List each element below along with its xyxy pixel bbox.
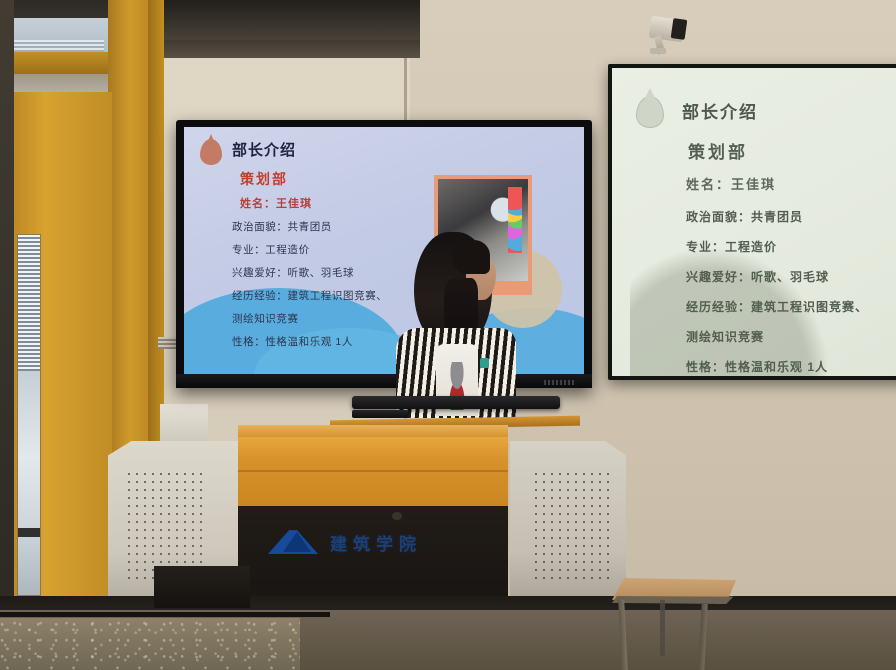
left-slide-department: 策划部 bbox=[240, 169, 288, 189]
left-shadow-edge bbox=[0, 0, 14, 670]
right-slide-name: 姓名：王佳琪 bbox=[686, 174, 776, 193]
screenshot-root: 部长介绍 策划部 姓名：王佳琪 政治面貌：共青团员 专业：工程造价 兴趣爱好：听… bbox=[0, 0, 896, 670]
right-slide-line: 专业：工程造价 bbox=[686, 238, 896, 255]
right-slide-line: 性格：性格温和乐观 1人 bbox=[686, 358, 896, 375]
soundbar bbox=[352, 396, 560, 409]
presenter-hair-front bbox=[454, 240, 490, 274]
door-vision-panel bbox=[17, 234, 41, 596]
right-display-screen: 部长介绍 策划部 姓名：王佳琪 政治面貌：共青团员 专业：工程造价 兴趣爱好：听… bbox=[612, 68, 896, 376]
soundbar-secondary bbox=[352, 410, 408, 418]
speaker-grille-right bbox=[532, 470, 610, 582]
floor-terrazzo bbox=[0, 618, 300, 670]
right-display[interactable]: 部长介绍 策划部 姓名：王佳琪 政治面貌：共青团员 专业：工程造价 兴趣爱好：听… bbox=[608, 64, 896, 380]
presenter-badge bbox=[480, 358, 489, 368]
lectern-front-panel bbox=[238, 506, 508, 602]
camera-mount bbox=[650, 48, 666, 54]
wooden-door[interactable] bbox=[0, 92, 112, 640]
lectern-logo-text: 建筑学院 bbox=[330, 530, 470, 552]
right-slide-title: 部长介绍 bbox=[682, 98, 758, 123]
right-slide-body: 政治面貌：共青团员 专业：工程造价 兴趣爱好：听歌、羽毛球 经历经验：建筑工程识… bbox=[686, 208, 896, 376]
door-blinds-icon bbox=[18, 235, 40, 371]
camera-lens bbox=[671, 18, 688, 40]
left-slide-title: 部长介绍 bbox=[232, 139, 296, 160]
ceiling-soffit-inner bbox=[150, 0, 420, 40]
left-slide-name: 姓名：王佳琪 bbox=[240, 195, 312, 211]
door-panel-floor bbox=[18, 537, 40, 595]
door-panel-sill bbox=[18, 528, 40, 537]
right-slide-line: 测绘知识竞赛 bbox=[686, 328, 896, 345]
wooden-stool-leg bbox=[660, 600, 665, 656]
left-display[interactable]: 部长介绍 策划部 姓名：王佳琪 政治面貌：共青团员 专业：工程造价 兴趣爱好：听… bbox=[176, 120, 592, 388]
security-camera-icon bbox=[650, 18, 690, 52]
right-slide: 部长介绍 策划部 姓名：王佳琪 政治面貌：共青团员 专业：工程造价 兴趣爱好：听… bbox=[612, 68, 896, 376]
right-slide-line: 经历经验：建筑工程识图竞赛、 bbox=[686, 298, 896, 315]
left-slide: 部长介绍 策划部 姓名：王佳琪 政治面貌：共青团员 专业：工程造价 兴趣爱好：听… bbox=[184, 127, 584, 374]
wooden-stool-rim bbox=[612, 596, 736, 604]
lectern-seam bbox=[238, 470, 508, 472]
water-drop-icon bbox=[636, 96, 664, 128]
right-slide-line: 政治面貌：共青团员 bbox=[686, 208, 896, 225]
lectern-emblem-dot bbox=[392, 512, 402, 520]
right-slide-line: 兴趣爱好：听歌、羽毛球 bbox=[686, 268, 896, 285]
under-podium-shadow bbox=[154, 566, 250, 608]
left-display-screen: 部长介绍 策划部 姓名：王佳琪 政治面貌：共青团员 专业：工程造价 兴趣爱好：听… bbox=[184, 127, 584, 374]
floor-step-edge bbox=[0, 612, 330, 617]
right-slide-department: 策划部 bbox=[688, 138, 748, 163]
presenter-person bbox=[392, 232, 520, 412]
water-drop-icon bbox=[200, 139, 222, 165]
left-display-brand-mark bbox=[544, 380, 574, 385]
left-display-bezel bbox=[176, 374, 592, 388]
lectern-wood-body bbox=[238, 437, 508, 509]
